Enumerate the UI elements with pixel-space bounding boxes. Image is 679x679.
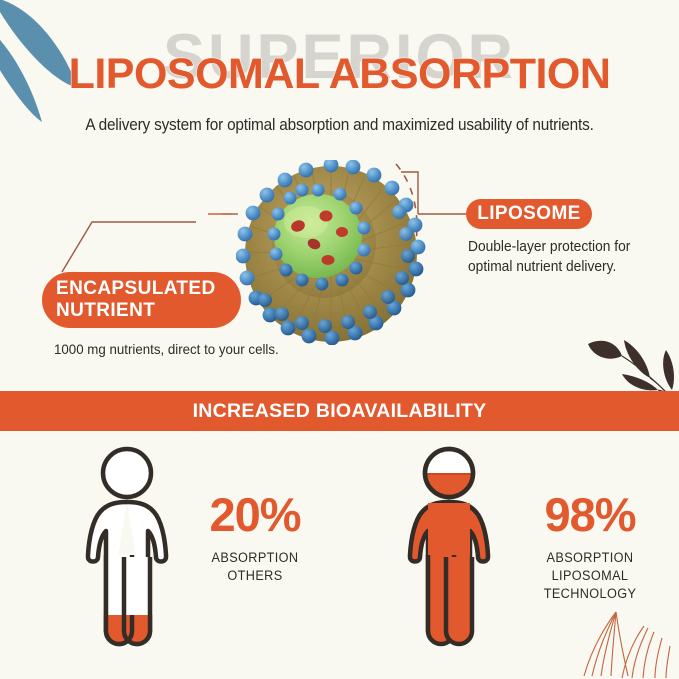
comparison-section: 20% ABSORPTION OTHERS (0, 431, 679, 679)
comparison-column-liposomal: 98% ABSORPTION LIPOSOMAL TECHNOLOGY (340, 431, 679, 679)
stat-line1-others: ABSORPTION (175, 549, 335, 567)
liposome-illustration (236, 160, 426, 345)
header: SUPERIOR LIPOSOMAL ABSORPTION (0, 26, 679, 89)
liposome-description: Double-layer protection for optimal nutr… (468, 238, 658, 277)
comparison-column-others: 20% ABSORPTION OTHERS (0, 431, 340, 679)
stat-line2-liposomal: LIPOSOMAL TECHNOLOGY (505, 567, 674, 603)
bioavailability-banner: INCREASED BIOAVAILABILITY (0, 391, 679, 431)
infographic-root: SUPERIOR LIPOSOMAL ABSORPTION A delivery… (0, 0, 679, 679)
banner-title: INCREASED BIOAVAILABILITY (193, 400, 487, 423)
stat-others: 20% ABSORPTION OTHERS (170, 491, 340, 585)
stat-label-liposomal: ABSORPTION LIPOSOMAL TECHNOLOGY (505, 549, 674, 604)
percent-liposomal: 98% (500, 491, 679, 538)
encapsulated-nutrient-badge: ENCAPSULATED NUTRIENT (42, 272, 241, 328)
percent-others: 20% (170, 491, 340, 538)
stat-label-others: ABSORPTION OTHERS (175, 549, 335, 585)
subtitle: A delivery system for optimal absorption… (24, 116, 655, 135)
nutrient-description: 1000 mg nutrients, direct to your cells. (54, 341, 358, 357)
stat-liposomal: 98% ABSORPTION LIPOSOMAL TECHNOLOGY (500, 491, 679, 604)
page-title: LIPOSOMAL ABSORPTION (0, 53, 679, 96)
liposome-badge: LIPOSOME (466, 199, 592, 229)
stat-line2-others: OTHERS (175, 567, 335, 585)
human-figure-filled-icon (384, 445, 514, 655)
stat-line1-liposomal: ABSORPTION (505, 549, 674, 567)
